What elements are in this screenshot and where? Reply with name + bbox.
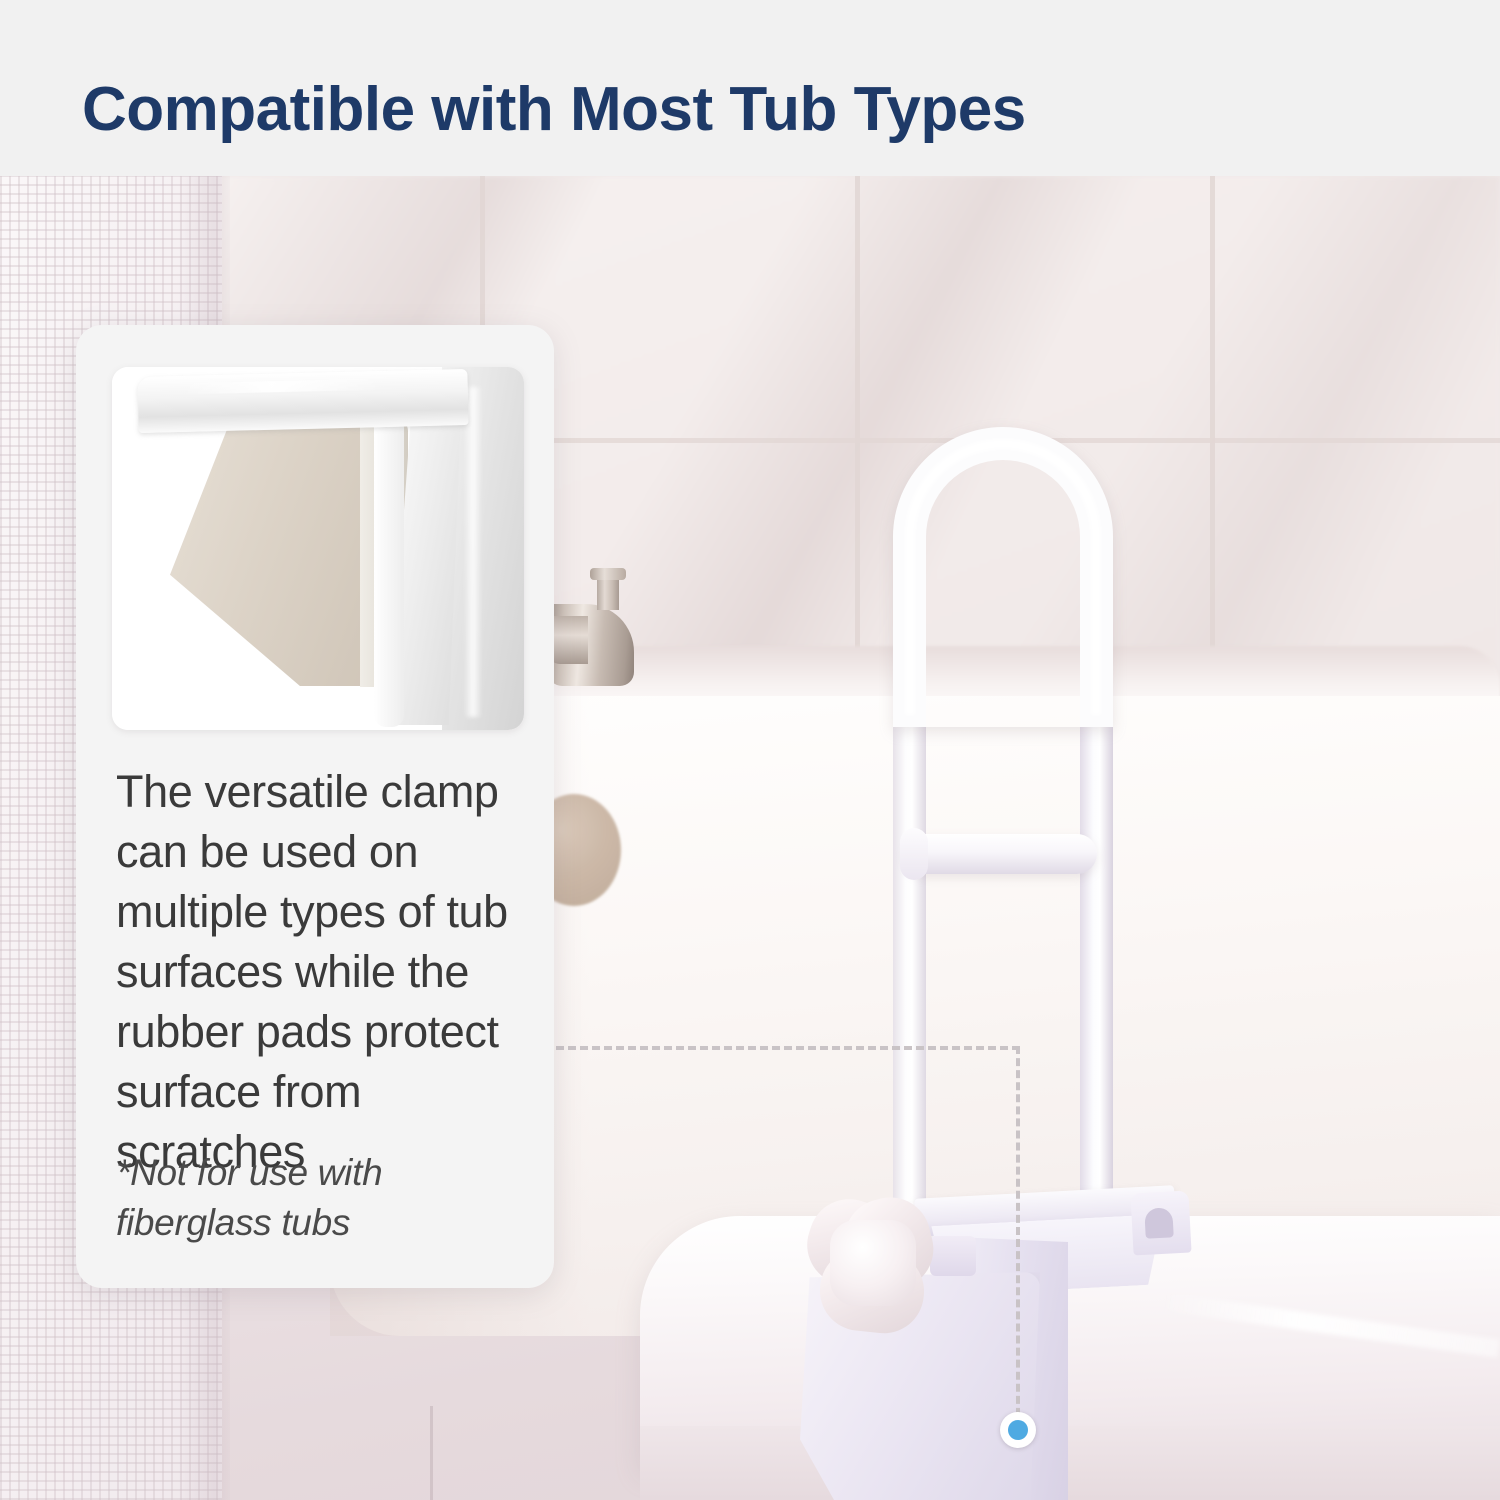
clamp-tightening-knob (800, 1192, 948, 1340)
callout-marker-dot-icon (1008, 1420, 1028, 1440)
inset-clamp-bracket-lip (374, 385, 404, 727)
floor-seam (430, 1406, 433, 1500)
tub-apron (640, 1426, 1500, 1500)
inset-tub-wall-highlight (464, 387, 482, 717)
card-disclaimer-text: *Not for use with fiberglass tubs (116, 1148, 516, 1248)
grab-bar-crossbar (905, 834, 1097, 874)
grab-bar-arch-highlight (905, 439, 1101, 715)
knob-center-boss (830, 1220, 916, 1306)
callout-line-vertical (1016, 1046, 1020, 1428)
page-title: Compatible with Most Tub Types (82, 74, 1026, 145)
tub-spout-arm (548, 616, 588, 664)
card-body-text: The versatile clamp can be used on multi… (116, 762, 526, 1182)
inset-image-frame (112, 367, 524, 730)
callout-line-horizontal (556, 1046, 1020, 1050)
clamp-side-tab-slot (1144, 1207, 1174, 1238)
grab-bar-left-leg (893, 696, 926, 1224)
grab-bar-right-leg (1080, 696, 1113, 1224)
tub-spout-diverter-cap (590, 568, 626, 580)
inset-clamp-top-lip (137, 369, 468, 433)
grab-bar-crossbar-cap (900, 828, 928, 880)
